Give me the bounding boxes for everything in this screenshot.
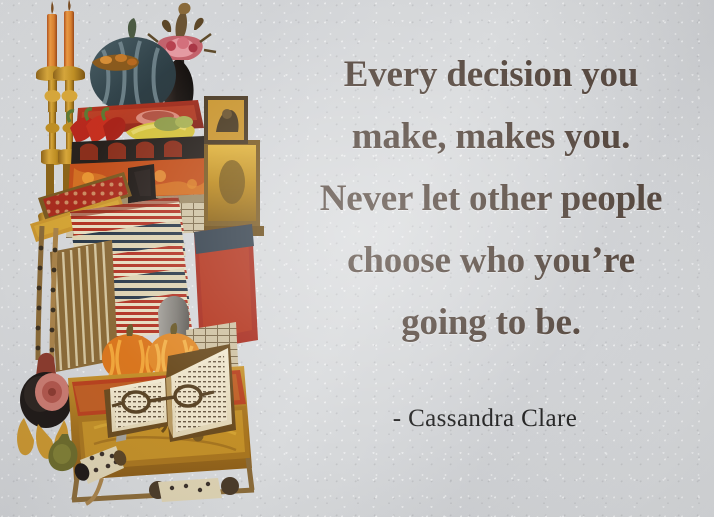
quote-attribution: - Cassandra Clare	[276, 405, 694, 433]
melon-group	[90, 18, 176, 113]
quote-line-3: Never let other people	[276, 168, 706, 230]
quote-card: Every decision you make, makes you. Neve…	[0, 0, 714, 517]
quote-text-block: Every decision you make, makes you. Neve…	[276, 44, 706, 354]
upper-right-frame-group	[204, 96, 248, 144]
quote-line-2: make, makes you.	[276, 106, 706, 168]
beaded-cord-group	[36, 226, 58, 362]
gold-panel-group	[204, 140, 264, 236]
quote-line-4: choose who you’re	[276, 230, 706, 292]
still-life-illustration	[8, 0, 290, 517]
quote-line-5: going to be.	[276, 292, 706, 354]
quote-line-1: Every decision you	[276, 44, 706, 106]
